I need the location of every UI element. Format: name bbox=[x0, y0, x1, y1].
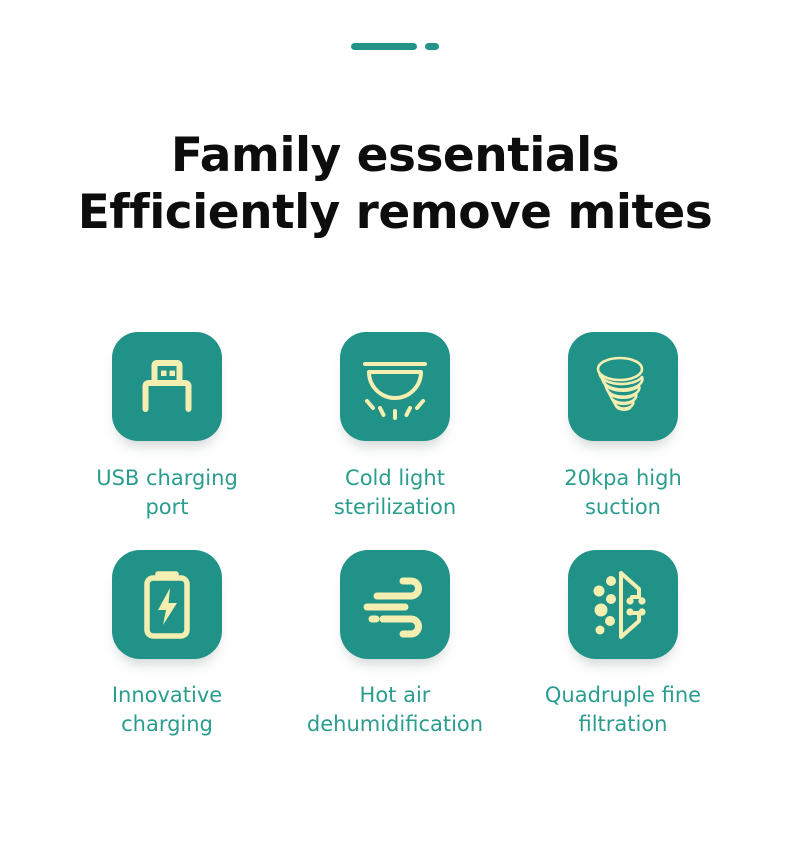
caption-line-2: suction bbox=[585, 495, 661, 519]
feature-icon-tile bbox=[568, 550, 678, 659]
caption-line-2: sterilization bbox=[334, 495, 456, 519]
page-title: Family essentials Efficiently remove mit… bbox=[0, 127, 790, 241]
divider-bar-icon bbox=[351, 43, 417, 50]
caption-line-1: 20kpa high bbox=[564, 466, 682, 490]
feature-icon-tile bbox=[112, 550, 222, 659]
decorative-divider bbox=[0, 38, 790, 54]
feature-icon-tile bbox=[112, 332, 222, 441]
caption-line-1: Cold light bbox=[345, 466, 445, 490]
caption-line-2: dehumidification bbox=[307, 712, 483, 736]
feature-caption: USB charging port bbox=[96, 464, 238, 522]
feature-icon-tile bbox=[568, 332, 678, 441]
feature-caption: Cold light sterilization bbox=[334, 464, 456, 522]
feature-icon-tile bbox=[340, 550, 450, 659]
caption-line-2: filtration bbox=[578, 712, 667, 736]
caption-line-2: charging bbox=[121, 712, 213, 736]
usb-dot-right bbox=[170, 370, 176, 376]
cold-light-lamp-icon bbox=[358, 351, 432, 423]
feature-caption: Quadruple fine filtration bbox=[545, 681, 701, 739]
feature-item-hot-air-dehumidification[interactable]: Hot air dehumidification bbox=[281, 550, 509, 739]
feature-icon-tile bbox=[340, 332, 450, 441]
usb-dot-left bbox=[161, 370, 167, 376]
divider-dot-icon bbox=[425, 43, 439, 50]
headline-line-2: Efficiently remove mites bbox=[0, 184, 790, 241]
headline-line-1: Family essentials bbox=[171, 128, 619, 183]
hot-air-wind-icon bbox=[359, 572, 431, 638]
feature-item-usb-charging-port[interactable]: USB charging port bbox=[53, 332, 281, 522]
feature-caption: 20kpa high suction bbox=[564, 464, 682, 522]
feature-item-innovative-charging[interactable]: Innovative charging bbox=[53, 550, 281, 739]
battery-charging-icon bbox=[134, 568, 200, 642]
caption-line-1: Hot air bbox=[360, 683, 431, 707]
caption-line-1: USB charging bbox=[96, 466, 238, 490]
feature-caption: Hot air dehumidification bbox=[307, 681, 483, 739]
filter-particles-icon bbox=[588, 568, 658, 642]
feature-caption: Innovative charging bbox=[112, 681, 222, 739]
feature-item-cold-light-sterilization[interactable]: Cold light sterilization bbox=[281, 332, 509, 522]
caption-line-1: Innovative bbox=[112, 683, 222, 707]
feature-item-quadruple-fine-filtration[interactable]: Quadruple fine filtration bbox=[509, 550, 737, 739]
feature-item-high-suction[interactable]: 20kpa high suction bbox=[509, 332, 737, 522]
feature-grid: USB charging port Cold light sterilizati… bbox=[53, 332, 737, 739]
caption-line-1: Quadruple fine bbox=[545, 683, 701, 707]
caption-line-2: port bbox=[145, 495, 188, 519]
lightning-bolt-icon bbox=[158, 588, 177, 625]
particles-large bbox=[594, 576, 617, 635]
usb-port-icon bbox=[132, 352, 202, 422]
cyclone-suction-icon bbox=[587, 351, 659, 423]
